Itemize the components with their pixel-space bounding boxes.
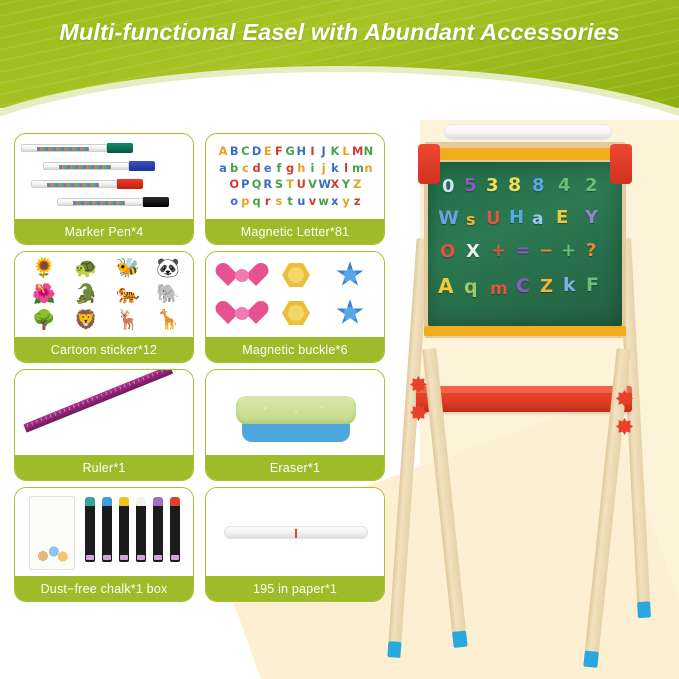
board-char: O (440, 241, 455, 262)
panel-magnetic-letter[interactable]: ABCDEFGHIJKLMN abcdefghijklmn OPQRSTUVWX… (205, 133, 385, 245)
chalk-red (170, 504, 180, 562)
board-char: 0 (442, 176, 455, 197)
paper-roll-icon (224, 526, 368, 539)
board-char: + (561, 240, 576, 261)
easel-accessory-tray (416, 386, 632, 412)
buckle-heart-icon (228, 300, 258, 330)
panel-caption-marker-pen: Marker Pen*4 (15, 219, 193, 244)
easel-paper-roll (444, 124, 612, 140)
easel-corner-cap-left (418, 144, 440, 184)
panel-row: Marker Pen*4 ABCDEFGHIJKLMN abcdefghijkl… (14, 133, 386, 245)
board-char: 8 (532, 175, 545, 196)
board-char: E (556, 207, 568, 228)
magnetic-buckle-illustration (206, 252, 384, 337)
panel-dust-free-chalk[interactable]: Dust−free chalk*1 box (14, 487, 194, 602)
chalk-box (29, 496, 75, 570)
marker-green (21, 144, 133, 152)
sticker-flower-icon: 🌺 (29, 283, 59, 307)
chalk-teal (85, 504, 95, 562)
board-char: k (563, 274, 576, 296)
marker-barrel (21, 144, 107, 152)
infographic-canvas: Multi-functional Easel with Abundant Acc… (0, 0, 679, 679)
sticker-tree-icon: 🌳 (29, 309, 59, 333)
chalk-blue (102, 504, 112, 562)
panel-caption-magnetic-letter: Magnetic Letter*81 (206, 219, 384, 244)
board-char: + (491, 240, 506, 261)
panel-caption-dust-free-chalk: Dust−free chalk*1 box (15, 576, 193, 601)
easel-chalkboard: 0 5 3 8 8 4 2 W s U H a E Y O X + = − (428, 162, 622, 326)
buckle-hexagon-icon (282, 262, 312, 292)
board-char: = (516, 241, 530, 261)
letter-row-lowercase-2: opqrstuvwxyz (214, 193, 378, 210)
board-char: q (464, 276, 478, 298)
sticker-turtle-icon: 🐢 (71, 257, 101, 281)
page-title: Multi-functional Easel with Abundant Acc… (0, 19, 679, 46)
board-char: 8 (508, 174, 521, 196)
easel-product-image: 0 5 3 8 8 4 2 W s U H a E Y O X + = − (392, 118, 679, 679)
marker-barrel (43, 162, 129, 170)
sticker-panda-icon: 🐼 (153, 257, 183, 281)
panel-ruler[interactable]: Ruler*1 (14, 369, 194, 481)
board-char: Z (540, 276, 553, 297)
panel-cartoon-sticker[interactable]: 🌻 🐢 🐝 🐼 🌺 🐊 🐅 🐘 🌳 🦁 🦌 🦒 Cartoon sticker*… (14, 251, 194, 363)
easel-foot-cap (637, 601, 651, 618)
board-char: s (466, 210, 476, 229)
buckle-heart-icon (228, 262, 258, 292)
board-char: 4 (558, 175, 571, 196)
marker-blue (43, 162, 155, 170)
panel-marker-pen[interactable]: Marker Pen*4 (14, 133, 194, 245)
board-char: 3 (486, 175, 499, 196)
panel-eraser[interactable]: Eraser*1 (205, 369, 385, 481)
buckle-star-icon (336, 261, 366, 291)
paper-roll-illustration (206, 488, 384, 576)
board-char: W (438, 207, 459, 229)
marker-red (31, 180, 143, 188)
board-char: X (466, 241, 480, 262)
magnetic-letter-illustration: ABCDEFGHIJKLMN abcdefghijklmn OPQRSTUVWX… (206, 134, 384, 219)
marker-barrel (57, 198, 143, 206)
board-char: 2 (585, 175, 598, 196)
panel-caption-ruler: Ruler*1 (15, 455, 193, 480)
board-char: m (490, 279, 508, 299)
panel-caption-eraser: Eraser*1 (206, 455, 384, 480)
easel-foot-cap (583, 650, 599, 667)
accessory-panel-grid: Marker Pen*4 ABCDEFGHIJKLMN abcdefghijkl… (14, 133, 386, 608)
marker-cap (107, 143, 133, 153)
board-char: H (509, 207, 524, 228)
sticker-giraffe-icon: 🦒 (153, 309, 183, 333)
sticker-lion-icon: 🦁 (71, 309, 101, 333)
ruler-illustration (15, 370, 193, 455)
eraser-illustration (206, 370, 384, 455)
marker-pen-illustration (15, 134, 193, 219)
panel-caption-magnetic-buckle: Magnetic buckle*6 (206, 337, 384, 362)
marker-cap (143, 197, 169, 207)
panel-magnetic-buckle[interactable]: Magnetic buckle*6 (205, 251, 385, 363)
marker-cap (117, 179, 143, 189)
sticker-crocodile-icon: 🐊 (71, 283, 101, 307)
buckle-star-icon (336, 299, 366, 329)
panel-row: Ruler*1 Eraser*1 (14, 369, 386, 481)
board-char: F (586, 274, 599, 296)
chalk-white (136, 504, 146, 562)
board-char: A (438, 274, 453, 298)
letter-row-uppercase-2: OPQRSTUVWXYZ (214, 176, 378, 193)
sticker-sunflower-icon: 🌻 (29, 257, 59, 281)
marker-black (57, 198, 169, 206)
cartoon-sticker-illustration: 🌻 🐢 🐝 🐼 🌺 🐊 🐅 🐘 🌳 🦁 🦌 🦒 (15, 252, 193, 337)
easel-foot-cap (387, 641, 401, 658)
easel-corner-cap-right (610, 144, 632, 184)
board-char: ? (586, 240, 596, 261)
chalk-box-artwork (34, 535, 70, 565)
board-char: − (539, 241, 553, 261)
sticker-elephant-icon: 🐘 (153, 283, 183, 307)
sticker-bee-icon: 🐝 (113, 257, 143, 281)
panel-paper-roll[interactable]: 195 in paper*1 (205, 487, 385, 602)
sticker-tiger-icon: 🐅 (113, 283, 143, 307)
board-char: C (516, 275, 530, 297)
easel-bottom-yellow-bar (424, 326, 626, 336)
ruler-icon (23, 370, 173, 433)
board-char: a (532, 209, 543, 229)
board-char: 5 (464, 175, 477, 196)
panel-caption-cartoon-sticker: Cartoon sticker*12 (15, 337, 193, 362)
marker-cap (129, 161, 155, 171)
chalk-yellow (119, 504, 129, 562)
easel-foot-cap (452, 631, 468, 648)
chalk-purple (153, 504, 163, 562)
chalk-illustration (15, 488, 193, 576)
board-char: U (486, 208, 501, 229)
header-banner: Multi-functional Easel with Abundant Acc… (0, 0, 679, 120)
letter-row-lowercase-1: abcdefghijklmn (214, 160, 378, 177)
panel-caption-paper-roll: 195 in paper*1 (206, 576, 384, 601)
buckle-hexagon-icon (282, 300, 312, 330)
easel-tray-lip (416, 386, 632, 393)
panel-row: 🌻 🐢 🐝 🐼 🌺 🐊 🐅 🐘 🌳 🦁 🦌 🦒 Cartoon sticker*… (14, 251, 386, 363)
letter-row-uppercase-1: ABCDEFGHIJKLMN (214, 143, 378, 160)
easel-top-yellow-bar (424, 148, 626, 160)
letter-grid: ABCDEFGHIJKLMN abcdefghijklmn OPQRSTUVWX… (214, 143, 378, 209)
panel-row: Dust−free chalk*1 box 195 in paper*1 (14, 487, 386, 602)
marker-barrel (31, 180, 117, 188)
easel-board-assembly: 0 5 3 8 8 4 2 W s U H a E Y O X + = − (424, 142, 626, 338)
eraser-felt-top (236, 396, 356, 424)
board-char: Y (585, 207, 598, 228)
sticker-deer-icon: 🦌 (113, 309, 143, 333)
